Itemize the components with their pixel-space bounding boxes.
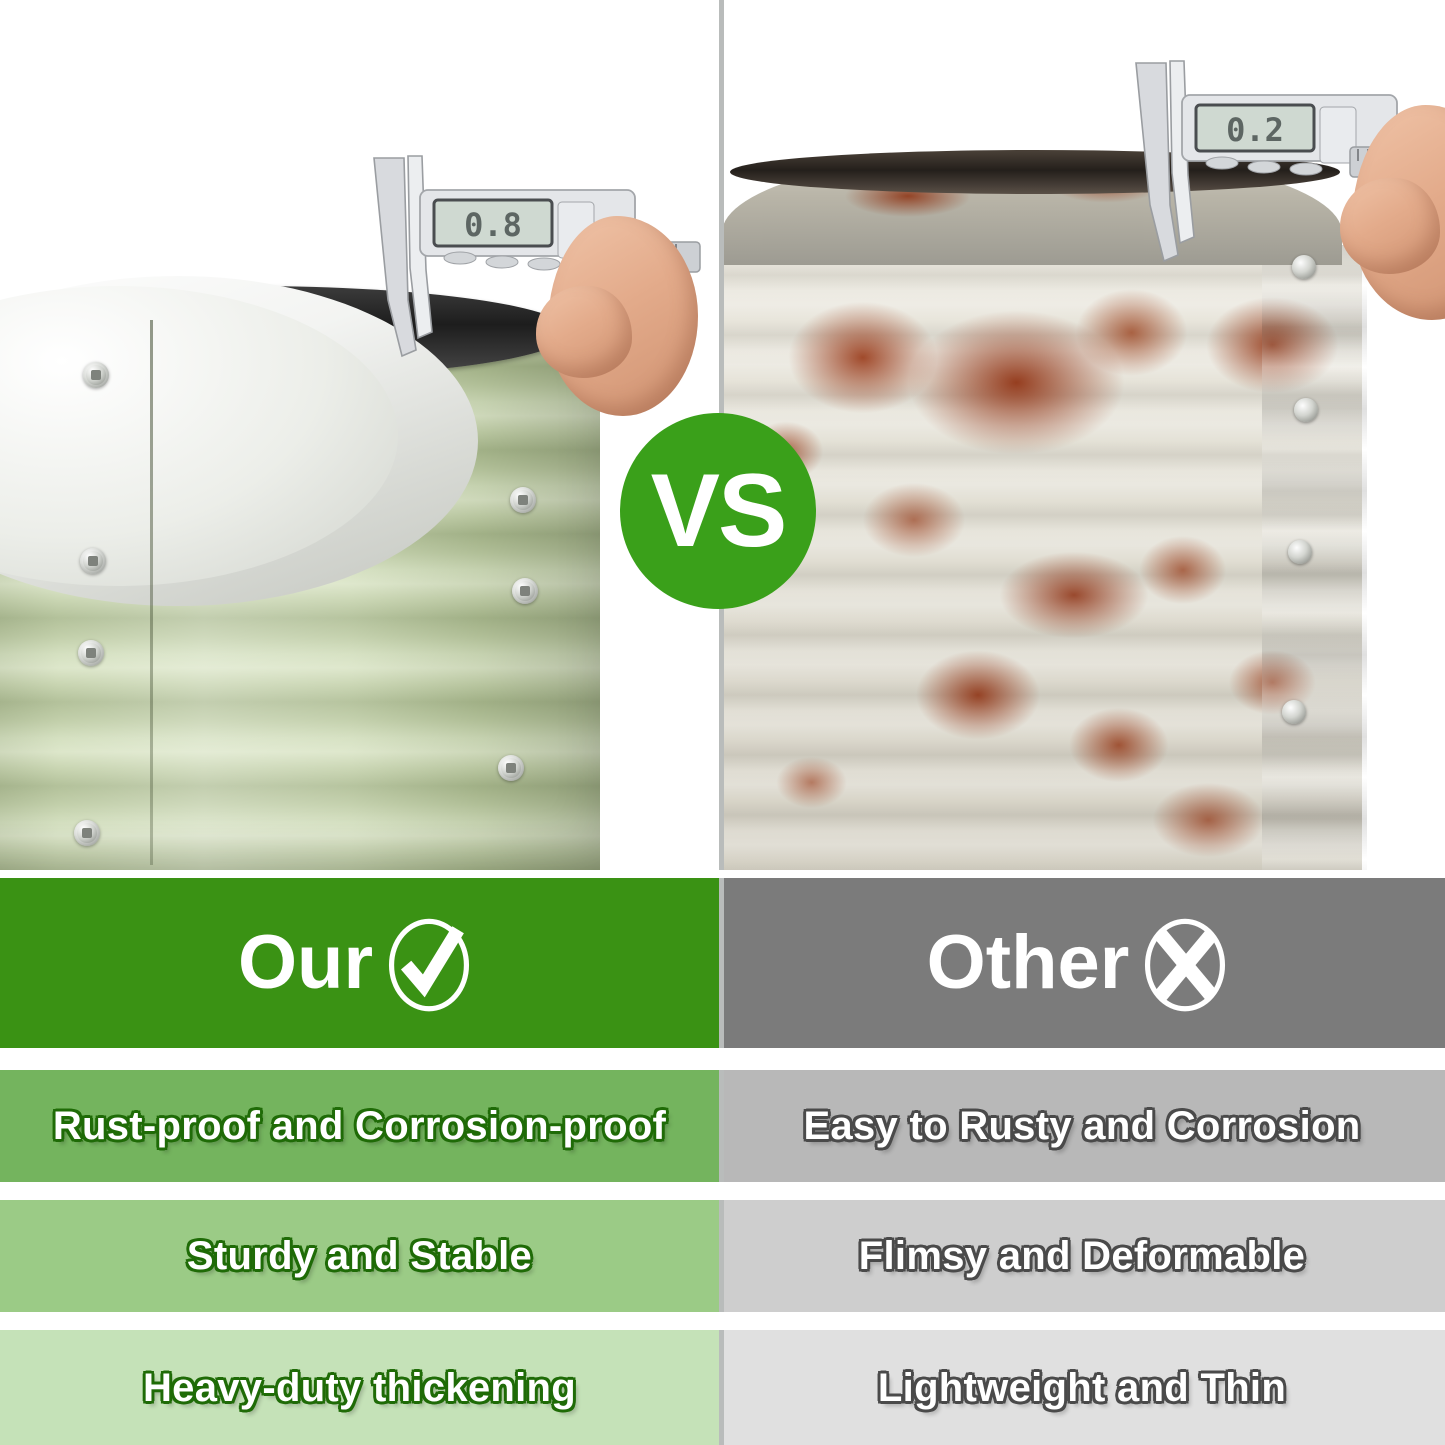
row-2-other-text: Flimsy and Deformable	[845, 1236, 1319, 1276]
photo-other-product: 0.2	[722, 0, 1445, 870]
x-mark-icon	[1133, 911, 1237, 1015]
bolt	[83, 362, 109, 388]
header-other: Other	[719, 878, 1445, 1048]
row-1-other-cell: Easy to Rusty and Corrosion	[719, 1070, 1445, 1182]
row-2-divider	[719, 1200, 724, 1312]
row-3-our-cell: Heavy-duty thickening	[0, 1330, 719, 1445]
finger-right	[1340, 178, 1440, 274]
row-3-other-text: Lightweight and Thin	[864, 1368, 1300, 1408]
row-3-divider	[719, 1330, 724, 1445]
photo-comparison-area: 0.8	[0, 0, 1445, 870]
header-our: Our	[0, 878, 719, 1048]
vs-badge: VS	[620, 413, 816, 609]
row-1-other-text: Easy to Rusty and Corrosion	[789, 1106, 1374, 1146]
caliper-left-reading: 0.8	[464, 206, 522, 244]
bolt	[78, 640, 104, 666]
row-2-our-text: Sturdy and Stable	[173, 1236, 546, 1276]
rusted-bed-corrugation-edge	[1262, 245, 1367, 870]
header-other-label: Other	[927, 925, 1130, 1001]
bolt	[510, 487, 536, 513]
row-1-our-cell: Rust-proof and Corrosion-proof	[0, 1070, 719, 1182]
bolt	[74, 820, 100, 846]
bolt	[1282, 700, 1306, 724]
caliper-right-reading: 0.2	[1226, 111, 1284, 149]
row-2-our-cell: Sturdy and Stable	[0, 1200, 719, 1312]
bolt	[512, 578, 538, 604]
panel-seam	[150, 320, 153, 865]
bolt	[1288, 540, 1312, 564]
row-3-our-text: Heavy-duty thickening	[129, 1368, 590, 1408]
row-1-our-text: Rust-proof and Corrosion-proof	[39, 1106, 680, 1146]
header-divider	[719, 878, 724, 1048]
bolt	[80, 548, 106, 574]
vs-label: VS	[651, 459, 786, 563]
check-mark-icon	[377, 911, 481, 1015]
row-1-divider	[719, 1070, 724, 1182]
row-3-other-cell: Lightweight and Thin	[719, 1330, 1445, 1445]
comparison-infographic: 0.8	[0, 0, 1445, 1445]
finger-left	[536, 286, 632, 378]
header-our-label: Our	[238, 925, 373, 1001]
row-2-other-cell: Flimsy and Deformable	[719, 1200, 1445, 1312]
bolt	[498, 755, 524, 781]
bolt	[1294, 398, 1318, 422]
comparison-table: Our Other	[0, 870, 1445, 1445]
photo-our-product: 0.8	[0, 0, 722, 870]
